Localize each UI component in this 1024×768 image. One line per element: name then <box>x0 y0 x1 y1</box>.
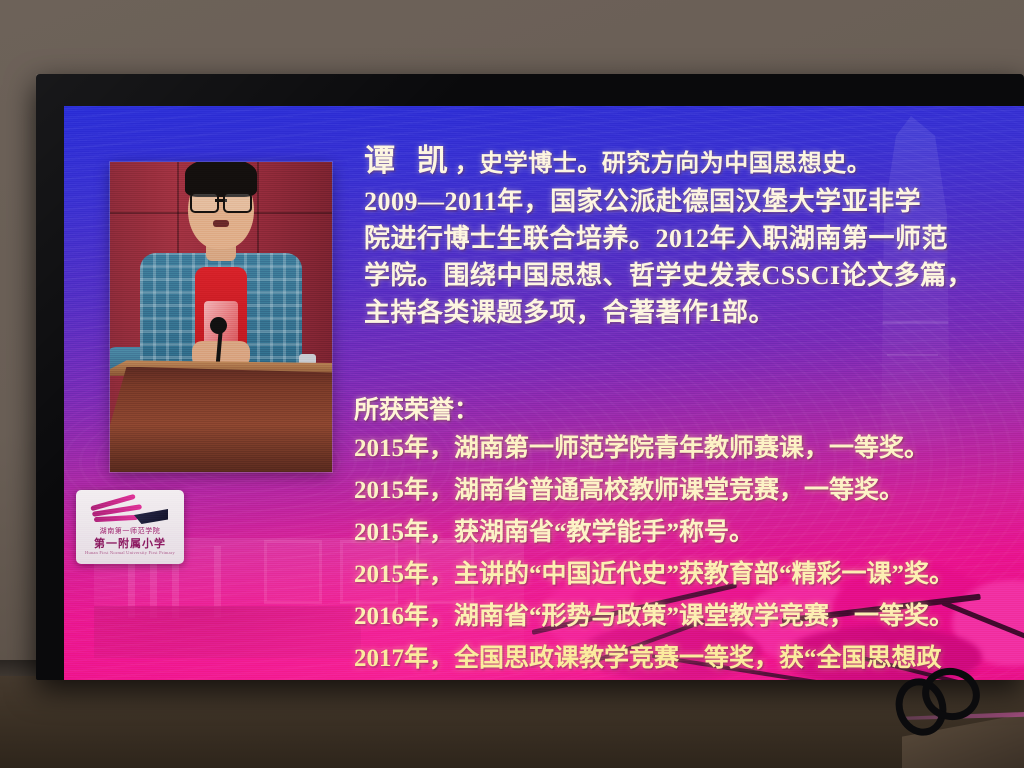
hanging-cable <box>892 662 988 734</box>
tv-screen[interactable]: 湖南第一师范学院 第一附属小学 Hunan First Normal Unive… <box>64 106 1024 680</box>
television[interactable]: 湖南第一师范学院 第一附属小学 Hunan First Normal Unive… <box>36 74 1024 680</box>
room-background: 湖南第一师范学院 第一附属小学 Hunan First Normal Unive… <box>0 0 1024 768</box>
slide-canvas: 湖南第一师范学院 第一附属小学 Hunan First Normal Unive… <box>64 106 1024 680</box>
wall-lower-section <box>0 676 1024 768</box>
screen-moire-texture <box>64 106 1024 680</box>
